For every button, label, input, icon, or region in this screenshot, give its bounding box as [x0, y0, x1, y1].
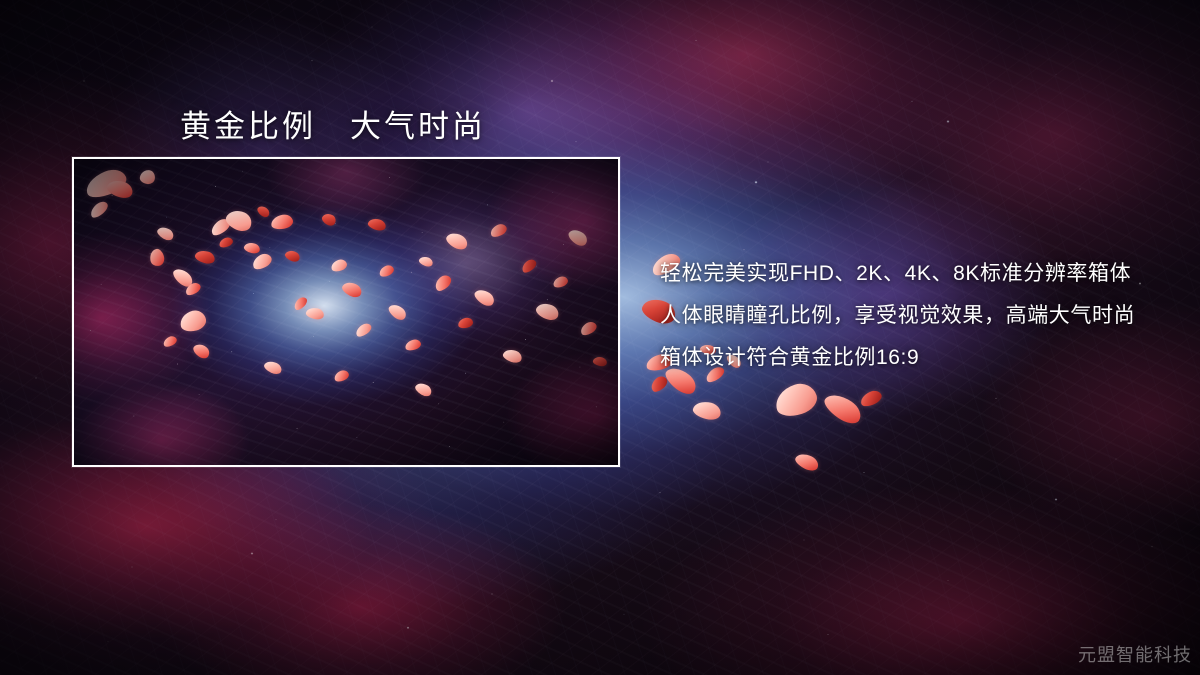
framed-photo	[72, 157, 620, 467]
watermark: 元盟智能科技	[1078, 641, 1192, 667]
body-copy-block: 轻松完美实现FHD、2K、4K、8K标准分辨率箱体 人体眼睛瞳孔比例，享受视觉效…	[660, 253, 1180, 379]
body-line: 人体眼睛瞳孔比例，享受视觉效果，高端大气时尚	[660, 295, 1180, 337]
body-line: 轻松完美实现FHD、2K、4K、8K标准分辨率箱体	[660, 253, 1180, 295]
photo-vignette	[74, 159, 618, 465]
body-line: 箱体设计符合黄金比例16:9	[660, 337, 1180, 379]
presentation-slide: 黄金比例 大气时尚 轻松完美实现FHD、2K、4K、8K标准分辨率箱体 人体眼睛…	[0, 0, 1200, 675]
page-title: 黄金比例 大气时尚	[180, 101, 486, 146]
